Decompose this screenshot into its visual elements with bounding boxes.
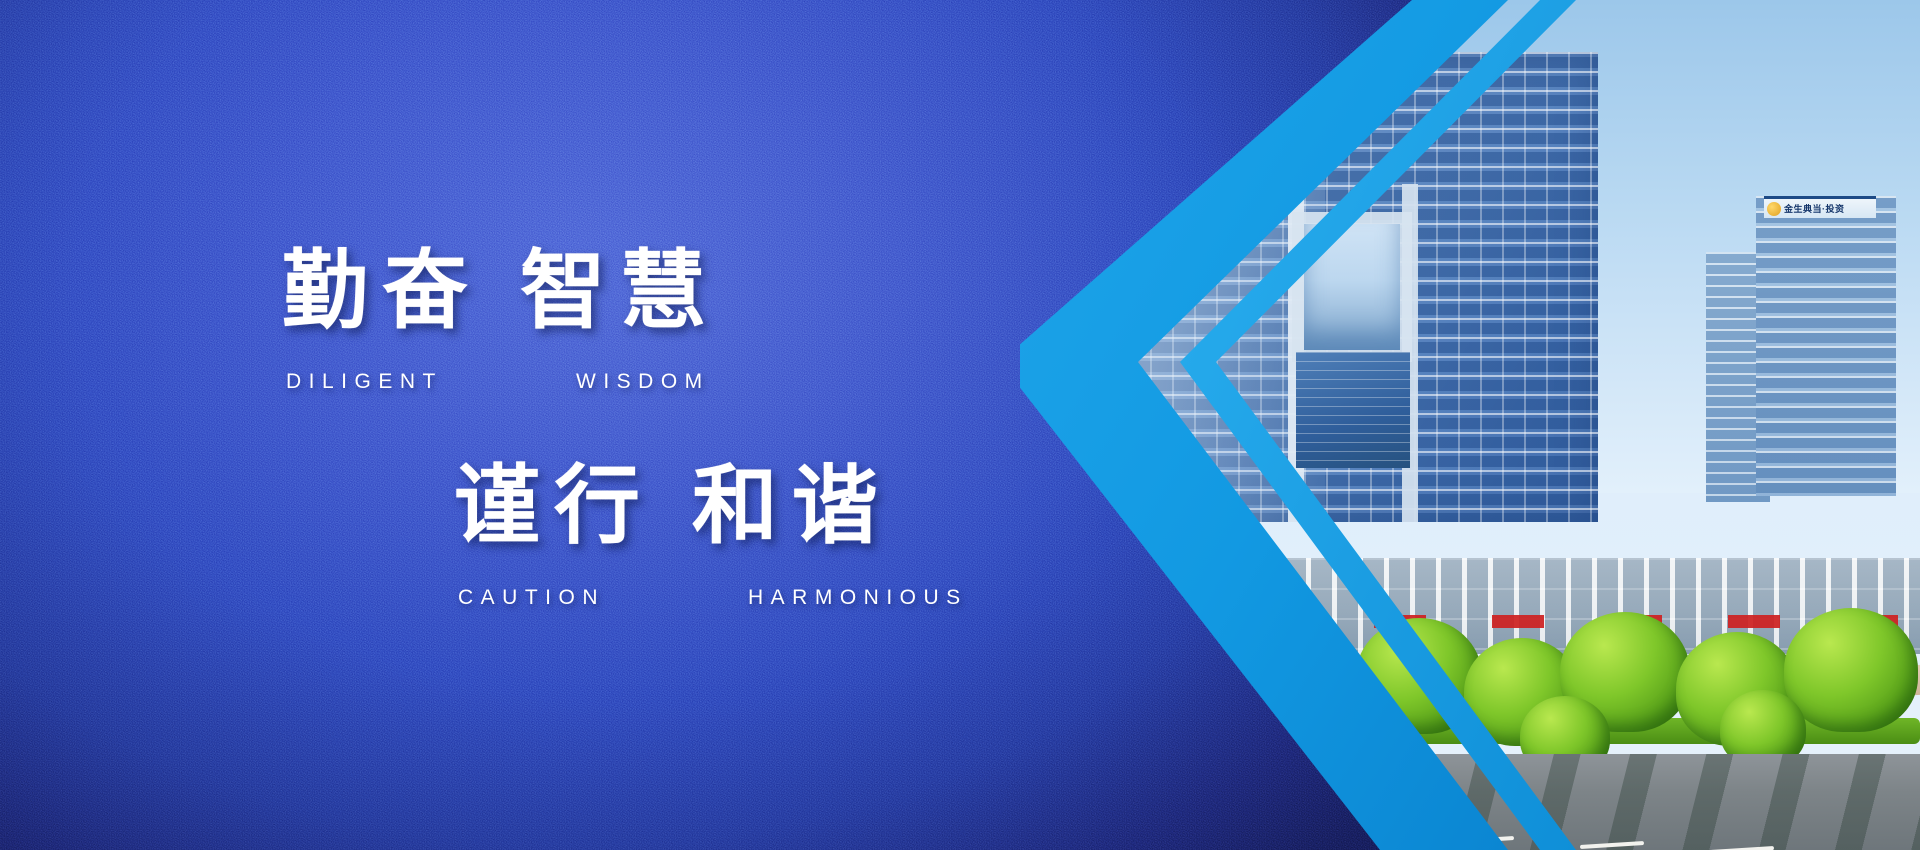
rooftop-company-sign: 江苏国泰 [1214, 0, 1369, 52]
street-greenery [1020, 588, 1920, 778]
tower-lower-block [1296, 352, 1410, 468]
right-artwork: 金生典当·投资 江苏国泰 [1020, 0, 1920, 850]
tower-roof-notch [1128, 52, 1363, 104]
shop-logo-icon [1767, 202, 1781, 216]
secondary-building-sign: 金生典当·投资 [1764, 196, 1876, 218]
secondary-sign-text: 金生典当·投资 [1784, 202, 1845, 215]
slogan-line-2-english-left: CAUTION [458, 586, 605, 610]
far-right-building-1 [1756, 196, 1896, 496]
street-lamp-arm [1222, 618, 1278, 622]
slogan-line-2-english-right: HARMONIOUS [748, 586, 968, 610]
lamp-banner-flag [1244, 678, 1256, 718]
main-tower [1128, 52, 1598, 522]
cityscape-photo-mask: 金生典当·投资 江苏国泰 [1020, 0, 1920, 850]
road-tree-shadows [1020, 754, 1920, 850]
slogan-line-1-english-left: DILIGENT [286, 370, 443, 394]
slogan-line-2-chinese: 谨行 和谐 [454, 463, 892, 549]
slogan-line-1-chinese: 勤奋 智慧 [282, 248, 720, 334]
road [1020, 754, 1920, 850]
street-lamp [1248, 622, 1252, 754]
slogan-line-1-english-right: WISDOM [576, 370, 710, 394]
slogan-text-block: 勤奋 智慧 DILIGENT WISDOM 谨行 和谐 CAUTION HARM… [258, 0, 1078, 850]
cityscape-photo: 金生典当·投资 江苏国泰 [1020, 0, 1920, 850]
tower-arch-aperture [1304, 224, 1400, 350]
corporate-culture-banner: 金生典当·投资 江苏国泰 [0, 0, 1920, 850]
